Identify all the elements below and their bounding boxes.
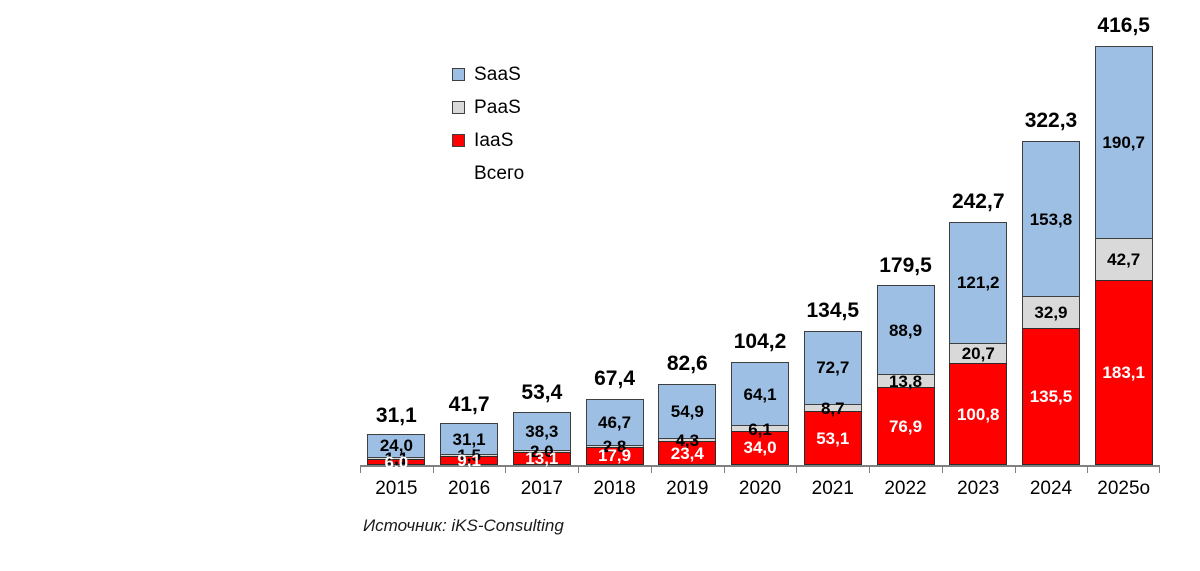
bar-segment-value: 8,7 <box>821 400 845 417</box>
bar-segment-value: 13,1 <box>525 450 558 467</box>
bar-segment-iaas[interactable]: 100,8 <box>949 363 1007 465</box>
bar-segment-value: 135,5 <box>1030 388 1073 405</box>
source-caption: Источник: iKS-Consulting <box>363 516 564 536</box>
bar-segment-value: 153,8 <box>1030 211 1073 228</box>
x-axis-label: 2020 <box>724 478 797 500</box>
bar-segment-iaas[interactable]: 9,1 <box>440 456 498 465</box>
x-axis-label: 2025о <box>1087 478 1160 500</box>
stacked-bar[interactable]: 153,832,9135,5 <box>1022 142 1080 465</box>
bar-slot: 38,32,013,153,4 <box>505 10 578 465</box>
stacked-bar[interactable]: 88,913,876,9 <box>877 286 935 465</box>
x-axis-label: 2023 <box>942 478 1015 500</box>
x-axis-label: 2019 <box>651 478 724 500</box>
bar-segment-value: 100,8 <box>957 406 1000 423</box>
x-axis-tick <box>942 465 1015 473</box>
bar-total-label: 104,2 <box>734 331 787 352</box>
x-axis-tick <box>724 465 797 473</box>
bar-slot: 64,16,134,0104,2 <box>724 10 797 465</box>
bar-group: 24,01,16,031,131,11,59,141,738,32,013,15… <box>360 10 1160 465</box>
bar-segment-saas[interactable]: 190,7 <box>1095 46 1153 239</box>
bar-total-label: 41,7 <box>449 394 490 415</box>
bar-slot: 153,832,9135,5322,3 <box>1015 10 1088 465</box>
bar-segment-value: 76,9 <box>889 418 922 435</box>
bar-slot: 121,220,7100,8242,7 <box>942 10 1015 465</box>
bar-segment-value: 54,9 <box>671 403 704 420</box>
bar-slot: 46,72,817,967,4 <box>578 10 651 465</box>
bar-total-label: 134,5 <box>806 300 859 321</box>
x-axis-label: 2017 <box>505 478 578 500</box>
stacked-bar[interactable]: 64,16,134,0 <box>731 363 789 465</box>
bar-segment-value: 13,8 <box>889 373 922 390</box>
x-axis-tick <box>796 465 869 473</box>
bar-segment-value: 32,9 <box>1034 304 1067 321</box>
bar-segment-iaas[interactable]: 76,9 <box>877 387 935 465</box>
stacked-bar[interactable]: 72,78,753,1 <box>804 332 862 465</box>
bar-segment-value: 38,3 <box>525 423 558 440</box>
bar-segment-value: 183,1 <box>1102 364 1145 381</box>
bar-segment-saas[interactable]: 72,7 <box>804 331 862 404</box>
bar-segment-value: 88,9 <box>889 322 922 339</box>
bar-segment-paas[interactable]: 32,9 <box>1022 296 1080 329</box>
bar-total-label: 179,5 <box>879 255 932 276</box>
bar-segment-value: 190,7 <box>1102 134 1145 151</box>
bar-segment-paas[interactable]: 20,7 <box>949 343 1007 364</box>
stacked-bar[interactable]: 24,01,16,0 <box>367 435 425 465</box>
bar-segment-saas[interactable]: 64,1 <box>731 362 789 427</box>
stacked-bar[interactable]: 121,220,7100,8 <box>949 223 1007 465</box>
bar-segment-paas[interactable]: 13,8 <box>877 374 935 388</box>
bar-segment-value: 6,0 <box>385 454 409 471</box>
bar-total-label: 322,3 <box>1025 110 1078 131</box>
bar-segment-value: 42,7 <box>1107 251 1140 268</box>
bar-segment-value: 17,9 <box>598 447 631 464</box>
stacked-bar[interactable]: 46,72,817,9 <box>586 400 644 465</box>
bar-segment-value: 23,4 <box>671 445 704 462</box>
bar-total-label: 416,5 <box>1097 15 1150 36</box>
x-axis-label: 2015 <box>360 478 433 500</box>
bar-total-label: 242,7 <box>952 191 1005 212</box>
stacked-bar[interactable]: 190,742,7183,1 <box>1095 47 1153 465</box>
x-axis-category-labels: 2015201620172018201920202021202220232024… <box>360 478 1160 500</box>
x-axis-tick <box>1015 465 1088 473</box>
bar-segment-value: 20,7 <box>962 345 995 362</box>
bar-segment-value: 53,1 <box>816 430 849 447</box>
plot-area: 24,01,16,031,131,11,59,141,738,32,013,15… <box>360 10 1160 465</box>
bar-segment-saas[interactable]: 88,9 <box>877 285 935 375</box>
bar-segment-value: 46,7 <box>598 414 631 431</box>
x-axis-label: 2024 <box>1015 478 1088 500</box>
bar-segment-value: 34,0 <box>743 439 776 456</box>
x-axis-label: 2016 <box>433 478 506 500</box>
bar-segment-iaas[interactable]: 23,4 <box>658 441 716 465</box>
bar-segment-iaas[interactable]: 53,1 <box>804 411 862 465</box>
bar-segment-iaas[interactable]: 13,1 <box>513 452 571 465</box>
bar-segment-iaas[interactable]: 135,5 <box>1022 328 1080 465</box>
bar-segment-paas[interactable]: 42,7 <box>1095 238 1153 281</box>
bar-segment-iaas[interactable]: 17,9 <box>586 447 644 465</box>
x-axis-tick <box>1087 465 1160 473</box>
x-axis-label: 2018 <box>578 478 651 500</box>
x-axis-tick <box>578 465 651 473</box>
bar-slot: 31,11,59,141,7 <box>433 10 506 465</box>
bar-segment-value: 72,7 <box>816 359 849 376</box>
bar-segment-iaas[interactable]: 183,1 <box>1095 280 1153 465</box>
stacked-bar-chart: SaaSPaaSIaaSВсего 24,01,16,031,131,11,59… <box>0 0 1200 571</box>
stacked-bar[interactable]: 31,11,59,1 <box>440 424 498 465</box>
bar-slot: 54,94,323,482,6 <box>651 10 724 465</box>
bar-slot: 72,78,753,1134,5 <box>796 10 869 465</box>
bar-slot: 190,742,7183,1416,5 <box>1087 10 1160 465</box>
bar-slot: 24,01,16,031,1 <box>360 10 433 465</box>
bar-total-label: 31,1 <box>376 405 417 426</box>
bar-segment-value: 9,1 <box>457 452 481 469</box>
x-axis-label: 2021 <box>796 478 869 500</box>
x-axis-tick <box>651 465 724 473</box>
bar-total-label: 82,6 <box>667 353 708 374</box>
bar-segment-saas[interactable]: 121,2 <box>949 222 1007 345</box>
x-axis-label: 2022 <box>869 478 942 500</box>
bar-segment-saas[interactable]: 153,8 <box>1022 141 1080 296</box>
bar-segment-value: 64,1 <box>743 386 776 403</box>
bar-total-label: 53,4 <box>521 382 562 403</box>
stacked-bar[interactable]: 54,94,323,4 <box>658 385 716 465</box>
bar-slot: 88,913,876,9179,5 <box>869 10 942 465</box>
bar-total-label: 67,4 <box>594 368 635 389</box>
stacked-bar[interactable]: 38,32,013,1 <box>513 413 571 465</box>
x-axis-tick <box>869 465 942 473</box>
bar-segment-value: 121,2 <box>957 274 1000 291</box>
bar-segment-value: 6,1 <box>748 421 772 438</box>
